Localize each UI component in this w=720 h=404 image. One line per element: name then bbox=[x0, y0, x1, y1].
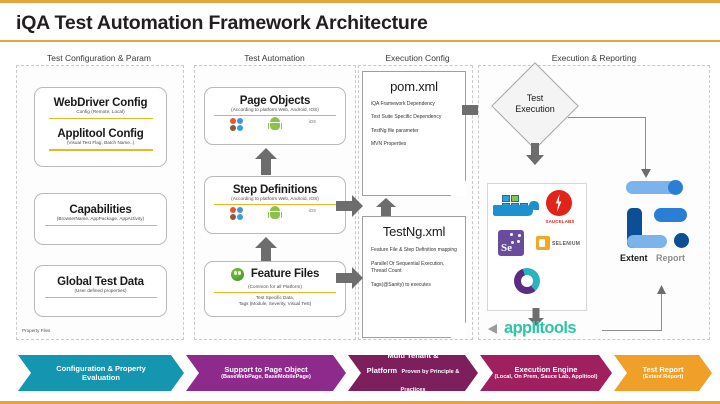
flow-4-main: Test Report bbox=[642, 365, 683, 374]
arrow-stepdefs-to-pageobjects bbox=[255, 148, 277, 175]
divider-rule-6 bbox=[214, 204, 336, 206]
property-files-label: Property Files bbox=[22, 328, 50, 333]
card-step-definitions[interactable]: Step Definitions (According to platform … bbox=[204, 176, 346, 234]
selenium-grid-label: Se bbox=[501, 242, 512, 254]
extent-report-label-light: Report bbox=[656, 253, 685, 263]
applitools-eye-icon bbox=[487, 322, 501, 336]
android-icon bbox=[265, 117, 285, 132]
flow-step-test-report[interactable]: Test Report (Extent Report) bbox=[614, 355, 712, 391]
arrow-stepdefs-to-testng bbox=[336, 195, 363, 217]
arrowhead-to-extent-report bbox=[641, 169, 651, 178]
pom-item-1: Test Suite Specific Dependency bbox=[371, 114, 457, 120]
docker-logo bbox=[493, 190, 539, 220]
appium-logo bbox=[514, 268, 540, 294]
column-header-test-configuration: Test Configuration & Param bbox=[14, 53, 184, 63]
divider-rule-3 bbox=[45, 225, 157, 227]
flow-2-main: Multi Tenant & bbox=[354, 351, 472, 360]
pom-item-0: iQA Framework Dependency bbox=[371, 101, 457, 107]
step-definitions-platform-row: iOS bbox=[205, 206, 345, 221]
flow-1-main: Support to Page Object bbox=[221, 365, 311, 374]
step-definitions-subtitle: (According to platform Web, Android, IOS… bbox=[205, 196, 345, 202]
column-header-execution-reporting: Execution & Reporting bbox=[478, 53, 710, 63]
arrow-testng-to-pom bbox=[376, 198, 396, 217]
arrow-featurefiles-to-stepdefs bbox=[255, 237, 277, 262]
flow-2-main2: Platform bbox=[367, 366, 397, 375]
pom-xml-title: pom.xml bbox=[363, 79, 465, 94]
connector-line-applitools bbox=[602, 330, 662, 331]
feature-files-subtitle: (Common for all Platform) bbox=[205, 284, 345, 290]
connector-line-vertical bbox=[645, 117, 646, 171]
page-objects-platform-row: iOS bbox=[205, 117, 345, 132]
doc-testng-xml[interactable]: TestNg.xml Feature File & Step Definitio… bbox=[362, 216, 466, 338]
doc-pom-xml[interactable]: pom.xml iQA Framework Dependency Test Su… bbox=[362, 71, 466, 196]
ios-label: iOS bbox=[302, 120, 322, 125]
testng-item-0: Feature File & Step Definition mapping bbox=[371, 247, 457, 253]
flow-step-configuration-evaluation[interactable]: Configuration & Property Evaluation bbox=[18, 355, 184, 391]
ios-label: iOS bbox=[302, 209, 322, 214]
selenium-logo bbox=[536, 236, 550, 250]
card-page-objects[interactable]: Page Objects (According to platform Web,… bbox=[204, 87, 346, 145]
flow-step-support-page-object[interactable]: Support to Page Object (BaseWebPage, Bas… bbox=[186, 355, 346, 391]
page-title: iQA Test Automation Framework Architectu… bbox=[0, 12, 428, 35]
card-feature-files[interactable]: Feature Files (Common for all Platform) … bbox=[204, 261, 346, 317]
diagram-frame: iQA Test Automation Framework Architectu… bbox=[0, 0, 720, 404]
test-execution-label: Test Execution bbox=[495, 93, 575, 116]
connector-line-horizontal bbox=[568, 117, 646, 118]
webdriver-config-subtitle: Config (Remote, Local) bbox=[35, 109, 166, 115]
flow-4-sub: (Extent Report) bbox=[642, 374, 683, 381]
divider-rule-2 bbox=[49, 149, 153, 151]
feature-files-title: Feature Files bbox=[205, 268, 345, 280]
divider-rule-5 bbox=[214, 115, 336, 117]
divider-rule-7 bbox=[214, 292, 336, 294]
divider-rule-4 bbox=[45, 297, 157, 299]
applitools-label: applitools bbox=[504, 319, 576, 338]
flow-step-execution-engine[interactable]: Execution Engine (Local, On Prem, Sauce … bbox=[480, 355, 612, 391]
test-execution-line1: Test bbox=[495, 93, 575, 104]
flow-3-sub: (Local, On Prem, Sauce Lab, Applitool) bbox=[495, 374, 598, 381]
global-test-data-title: Global Test Data bbox=[35, 276, 166, 288]
testng-xml-title: TestNg.xml bbox=[363, 224, 465, 239]
flow-1-sub: (BaseWebPage, BaseMobilePage) bbox=[221, 374, 311, 381]
card-capabilities[interactable]: Capabilities (BrowserName, AppPackage, A… bbox=[34, 193, 167, 245]
android-icon bbox=[265, 206, 285, 221]
selenium-label: SELENIUM bbox=[552, 241, 580, 247]
arrowhead-applitools-to-report bbox=[657, 285, 666, 294]
selenium-grid-logo: Se bbox=[498, 230, 524, 256]
pom-item-3: MVN Properties bbox=[371, 141, 457, 147]
web-browsers-icon bbox=[228, 206, 248, 221]
webdriver-config-title: WebDriver Config bbox=[35, 97, 166, 109]
divider-rule-1 bbox=[49, 118, 153, 120]
column-header-execution-config: Execution Config bbox=[360, 53, 475, 63]
flow-2-sub: Proven by Principle & Practices bbox=[401, 369, 460, 393]
applitools-logo: applitools bbox=[487, 319, 576, 338]
extent-report-logo: Extent Report bbox=[620, 181, 692, 273]
page-fold-corner bbox=[450, 322, 466, 338]
step-definitions-title: Step Definitions bbox=[205, 184, 345, 196]
card-webdriver-applitool-config[interactable]: WebDriver Config Config (Remote, Local) … bbox=[34, 87, 167, 167]
flow-0-main: Configuration & Property bbox=[56, 364, 146, 373]
page-fold-corner bbox=[450, 180, 466, 196]
global-test-data-subtitle: (User defined properties) bbox=[35, 288, 166, 294]
column-header-test-automation: Test Automation bbox=[192, 53, 357, 63]
extent-report-label-bold: Extent bbox=[620, 253, 648, 263]
web-browsers-icon bbox=[228, 117, 248, 132]
capabilities-subtitle: (BrowserName, AppPackage, AppActivity) bbox=[35, 216, 166, 222]
applitool-config-subtitle: (Visual Test Flag, Batch Name..) bbox=[35, 140, 166, 146]
page-objects-title: Page Objects bbox=[205, 95, 345, 107]
ios-icon: iOS bbox=[302, 206, 322, 221]
saucelabs-label: SAUCELABS bbox=[540, 219, 580, 224]
title-bar: iQA Test Automation Framework Architectu… bbox=[0, 6, 720, 42]
card-global-test-data[interactable]: Global Test Data (User defined propertie… bbox=[34, 265, 167, 317]
pom-item-2: TestNg file parameter bbox=[371, 128, 457, 134]
testng-item-2: Tags(@Sanity) to executes bbox=[371, 282, 457, 288]
flow-3-main: Execution Engine bbox=[495, 365, 598, 374]
testng-item-1: Parallel Or Sequential Execution, Thread… bbox=[371, 261, 457, 274]
flow-step-multi-tenant-platform[interactable]: Multi Tenant & Platform Proven by Princi… bbox=[348, 355, 478, 391]
capabilities-title: Capabilities bbox=[35, 204, 166, 216]
page-objects-subtitle: (According to platform Web, Android, IOS… bbox=[205, 107, 345, 113]
arrow-execution-to-engines bbox=[526, 143, 544, 165]
ios-icon: iOS bbox=[302, 117, 322, 132]
saucelabs-logo bbox=[546, 190, 572, 216]
connector-line-applitools-up bbox=[661, 293, 662, 331]
test-execution-line2: Execution bbox=[495, 104, 575, 115]
flow-0-main2: Evaluation bbox=[56, 373, 146, 382]
applitool-config-title: Applitool Config bbox=[35, 128, 166, 140]
arrow-featurefiles-to-testng bbox=[336, 267, 363, 289]
feature-files-footer-line2: Tags (Module, Severity, Visual Test) bbox=[205, 301, 345, 307]
execution-engines-panel: SAUCELABS Se SELENIUM bbox=[487, 183, 587, 311]
